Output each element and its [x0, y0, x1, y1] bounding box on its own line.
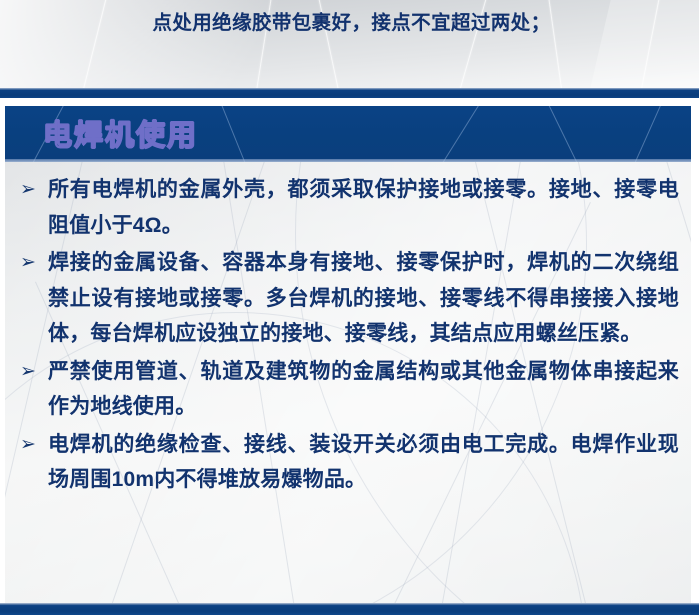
- list-item-text: 所有电焊机的金属外壳，都须采取保护接地或接零。接地、接零电阻值小于4Ω。: [48, 172, 679, 243]
- section-title: 电焊机使用: [43, 112, 198, 154]
- list-item: ➢ 电焊机的绝缘检查、接线、装设开关必须由电工完成。电焊作业现场周围10m内不得…: [17, 427, 679, 498]
- content-block: 电焊机使用 ➢ 所有电焊机的金属外壳，都须采取保护接地或接零。接地、接零电阻值小…: [5, 106, 691, 603]
- list-item: ➢ 严禁使用管道、轨道及建筑物的金属结构或其他金属物体串接起来作为地线使用。: [17, 354, 679, 425]
- list-item: ➢ 焊接的金属设备、容器本身有接地、接零保护时，焊机的二次绕组禁止设有接地或接零…: [17, 245, 679, 352]
- decorative-line: [210, 106, 261, 162]
- section-body: ➢ 所有电焊机的金属外壳，都须采取保护接地或接零。接地、接零电阻值小于4Ω。 ➢…: [5, 162, 691, 603]
- list-item-text: 严禁使用管道、轨道及建筑物的金属结构或其他金属物体串接起来作为地线使用。: [48, 354, 679, 425]
- header-continuation-text: 点处用绝缘胶带包裹好，接点不宜超过两处；: [0, 8, 699, 38]
- list-item: ➢ 所有电焊机的金属外壳，都须采取保护接地或接零。接地、接零电阻值小于4Ω。: [17, 172, 679, 243]
- decorative-line: [618, 106, 674, 162]
- decorative-line: [536, 106, 596, 162]
- arrow-bullet-icon: ➢: [17, 427, 48, 462]
- slide-root: 点处用绝缘胶带包裹好，接点不宜超过两处； 电焊机使用: [0, 0, 699, 615]
- arrow-bullet-icon: ➢: [17, 354, 48, 389]
- arrow-bullet-icon: ➢: [17, 245, 48, 280]
- top-header-band: 点处用绝缘胶带包裹好，接点不宜超过两处；: [0, 0, 699, 88]
- top-divider-rule: [0, 88, 699, 98]
- bottom-divider-rule: [0, 603, 699, 615]
- arrow-bullet-icon: ➢: [17, 172, 48, 207]
- decorative-line: [421, 106, 493, 162]
- bullet-list: ➢ 所有电焊机的金属外壳，都须采取保护接地或接零。接地、接零电阻值小于4Ω。 ➢…: [5, 162, 691, 498]
- list-item-text: 电焊机的绝缘检查、接线、装设开关必须由电工完成。电焊作业现场周围10m内不得堆放…: [48, 427, 679, 498]
- list-item-text: 焊接的金属设备、容器本身有接地、接零保护时，焊机的二次绕组禁止设有接地或接零。多…: [48, 245, 679, 352]
- section-title-bar: 电焊机使用: [5, 106, 691, 162]
